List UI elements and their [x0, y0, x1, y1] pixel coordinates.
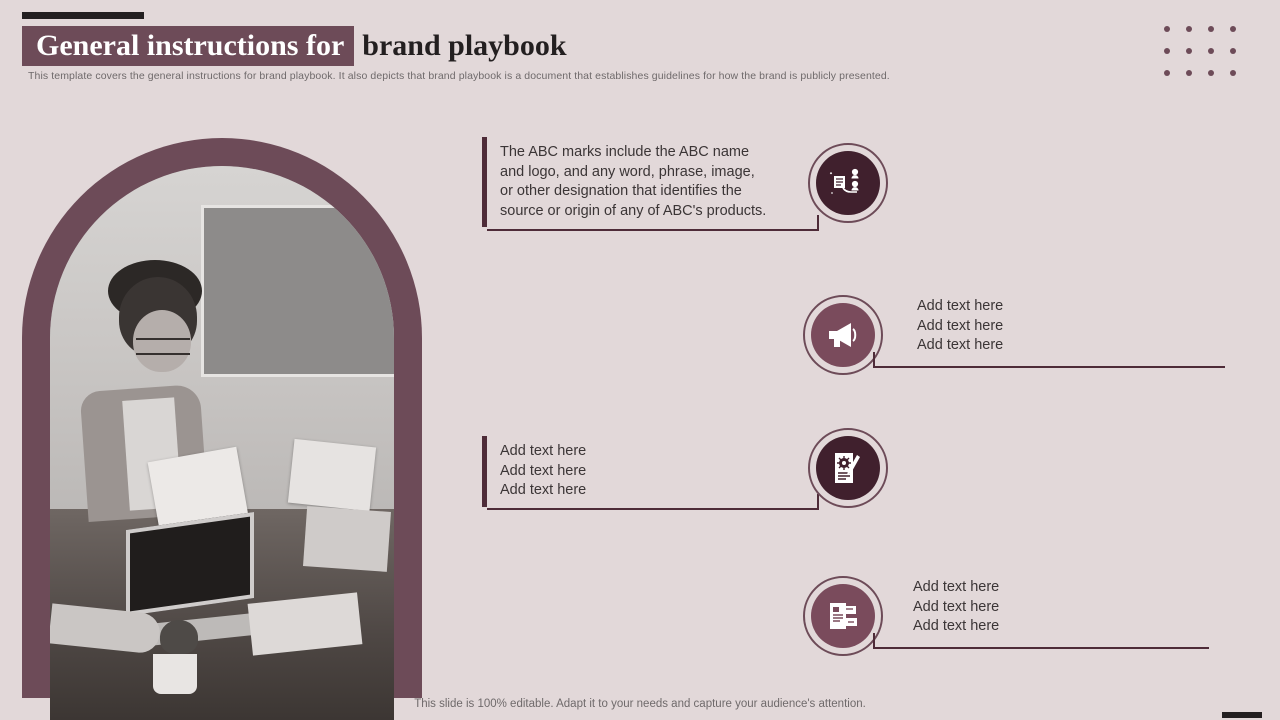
photo-paper — [288, 439, 376, 511]
item-4-text: Add text here Add text here Add text her… — [913, 578, 1233, 637]
item-1-icon-badge[interactable] — [808, 143, 888, 223]
meeting-photo — [50, 166, 394, 720]
item-1-line-2: and logo, and any word, phrase, image, — [500, 163, 810, 183]
dot — [1164, 70, 1170, 76]
photo-tablet — [303, 507, 391, 573]
item-1-text: The ABC marks include the ABC name and l… — [482, 137, 810, 227]
photo-whiteboard — [201, 205, 394, 377]
dot — [1230, 26, 1236, 32]
item-3-rule — [487, 494, 819, 510]
dot — [1230, 48, 1236, 54]
page-title-rest: brand playbook — [354, 26, 566, 66]
top-accent-bar — [22, 12, 144, 19]
footer-note: This slide is 100% editable. Adapt it to… — [0, 698, 1280, 710]
dot-grid-decoration — [1164, 26, 1252, 92]
megaphone-icon — [811, 303, 875, 367]
page-title: General instructions for brand playbook — [22, 26, 567, 66]
document-gear-pen-icon — [816, 436, 880, 500]
item-2-line-2: Add text here — [917, 317, 1237, 337]
bottom-accent-bar — [1222, 712, 1262, 718]
dot — [1186, 70, 1192, 76]
photo-plant-pot — [153, 654, 197, 694]
photo-person-glasses — [136, 338, 190, 355]
dot — [1164, 26, 1170, 32]
item-4-icon-badge[interactable] — [803, 576, 883, 656]
page-title-highlight: General instructions for — [22, 26, 354, 66]
dot — [1186, 48, 1192, 54]
dot — [1208, 26, 1214, 32]
content-layout-icon — [811, 584, 875, 648]
item-2-line-1: Add text here — [917, 297, 1237, 317]
item-4-line-2: Add text here — [913, 598, 1233, 618]
dot — [1230, 70, 1236, 76]
item-3-line-1: Add text here — [500, 442, 810, 462]
dot — [1208, 70, 1214, 76]
item-1-line-3: or other designation that identifies the — [500, 182, 810, 202]
item-2-rule — [873, 352, 1225, 368]
item-2-text: Add text here Add text here Add text her… — [917, 297, 1237, 356]
item-4-rule — [873, 633, 1209, 649]
arch-photo-block — [22, 138, 422, 720]
item-2-icon-badge[interactable] — [803, 295, 883, 375]
item-3-icon-badge[interactable] — [808, 428, 888, 508]
hand-holding-people-icon — [816, 151, 880, 215]
photo-laptop-screen — [126, 512, 254, 616]
photo-plant — [160, 620, 198, 654]
item-1-rule — [487, 215, 819, 231]
slide: General instructions for brand playbook … — [0, 0, 1280, 720]
page-subtitle: This template covers the general instruc… — [28, 70, 890, 82]
dot — [1164, 48, 1170, 54]
dot — [1186, 26, 1192, 32]
item-4-line-1: Add text here — [913, 578, 1233, 598]
item-1-line-1: The ABC marks include the ABC name — [500, 143, 810, 163]
dot — [1208, 48, 1214, 54]
item-3-line-2: Add text here — [500, 462, 810, 482]
